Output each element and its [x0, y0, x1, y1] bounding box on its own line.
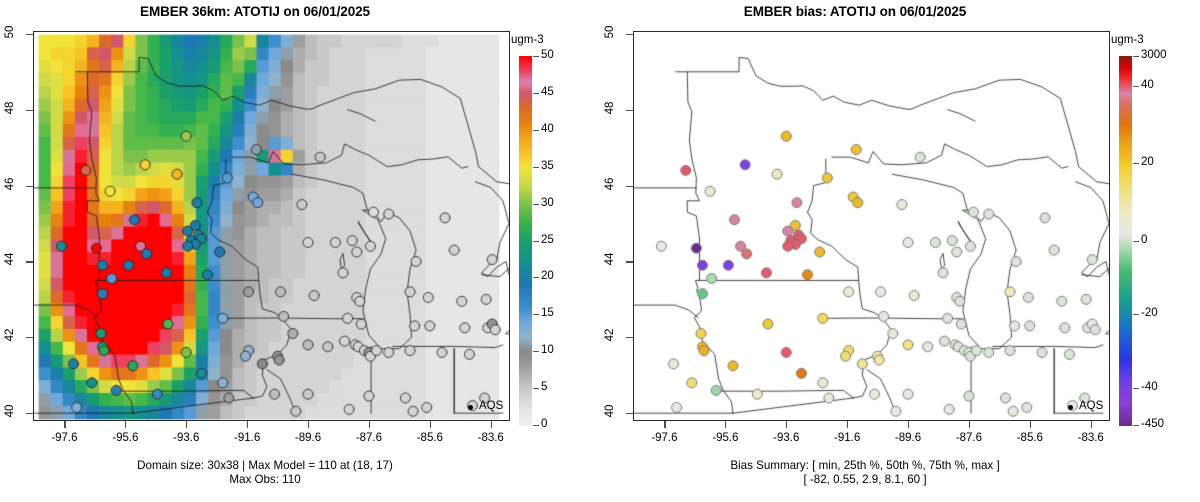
- colorbar-tick-label: 0: [541, 418, 547, 430]
- colorbar-tick: [533, 204, 539, 205]
- x-axis-tick-label: -93.6: [756, 432, 816, 444]
- x-axis-tick: [491, 421, 492, 428]
- colorbar-gradient: [519, 56, 532, 426]
- aqs-legend-dot: [468, 405, 473, 410]
- y-axis-tick-label: 42: [604, 320, 616, 350]
- y-axis-tick-label: 44: [4, 244, 16, 274]
- x-axis-tick: [969, 421, 970, 428]
- x-axis-tick-label: -87.6: [939, 432, 999, 444]
- y-axis-tick: [26, 34, 33, 35]
- y-axis-tick-label: 46: [604, 169, 616, 199]
- y-axis-tick-label: 50: [604, 17, 616, 47]
- y-axis-tick-label: 48: [604, 93, 616, 123]
- y-axis-tick: [26, 337, 33, 338]
- colorbar-tick-label: -40: [1141, 381, 1158, 393]
- colorbar-tick: [1133, 314, 1139, 315]
- x-axis-tick-label: -83.6: [461, 432, 521, 444]
- colorbar-tick: [1133, 425, 1139, 426]
- colorbar-tick-label: 25: [541, 234, 554, 246]
- colorbar-tick: [1133, 388, 1139, 389]
- x-axis-tick-label: -83.6: [1061, 432, 1121, 444]
- x-axis-tick: [369, 421, 370, 428]
- x-axis-tick: [430, 421, 431, 428]
- panel-bias-title: EMBER bias: ATOTIJ on 06/01/2025: [600, 4, 1110, 19]
- colorbar-tick: [533, 277, 539, 278]
- y-axis-tick: [626, 413, 633, 414]
- x-axis-tick: [125, 421, 126, 428]
- colorbar-tick: [533, 351, 539, 352]
- colorbar-unit-label: ugm-3: [1111, 34, 1144, 46]
- x-axis-tick-label: -97.6: [34, 432, 94, 444]
- x-axis-tick: [908, 421, 909, 428]
- x-axis-tick-label: -95.6: [95, 432, 155, 444]
- colorbar-tick-label: 20: [1141, 156, 1154, 168]
- panel-bias-plot-area: [633, 31, 1110, 421]
- colorbar-tick: [533, 167, 539, 168]
- y-axis-tick-label: 48: [4, 93, 16, 123]
- colorbar-tick: [533, 425, 539, 426]
- y-axis-tick: [626, 261, 633, 262]
- panel-bias: EMBER bias: ATOTIJ on 06/01/2025 Bias Su…: [600, 0, 1200, 502]
- colorbar-tick-label: 15: [541, 307, 554, 319]
- colorbar-tick-label: 50: [541, 49, 554, 61]
- y-axis-tick: [26, 413, 33, 414]
- x-axis-tick-label: -95.6: [695, 432, 755, 444]
- model-raster-canvas: [34, 32, 509, 420]
- y-axis-tick-label: 40: [4, 396, 16, 426]
- x-axis-tick-label: -93.6: [156, 432, 216, 444]
- y-axis-tick-label: 42: [4, 320, 16, 350]
- x-axis-tick: [308, 421, 309, 428]
- x-axis-tick: [847, 421, 848, 428]
- figure-root: EMBER 36km: ATOTIJ on 06/01/2025 Domain …: [0, 0, 1200, 502]
- colorbar-tick: [533, 56, 539, 57]
- panel-model-title: EMBER 36km: ATOTIJ on 06/01/2025: [0, 4, 510, 19]
- x-axis-tick: [786, 421, 787, 428]
- y-axis-tick-label: 50: [4, 17, 16, 47]
- aqs-legend-label: AQS: [1079, 400, 1103, 412]
- x-axis-tick-label: -89.6: [878, 432, 938, 444]
- panel-model-caption-line2: Max Obs: 110: [0, 473, 530, 486]
- aqs-legend-dot: [1068, 405, 1073, 410]
- panel-bias-caption-line2: [ -82, 0.55, 2.9, 8.1, 60 ]: [600, 473, 1130, 486]
- x-axis-tick: [186, 421, 187, 428]
- colorbar-tick: [533, 93, 539, 94]
- y-axis-tick: [26, 186, 33, 187]
- x-axis-tick: [64, 421, 65, 428]
- x-axis-tick: [247, 421, 248, 428]
- colorbar-tick: [533, 388, 539, 389]
- colorbar-tick-label: -450: [1141, 418, 1164, 430]
- colorbar-tick: [533, 241, 539, 242]
- colorbar-tick-label: 30: [541, 197, 554, 209]
- colorbar-tick: [1133, 163, 1139, 164]
- x-axis-tick-label: -91.6: [217, 432, 277, 444]
- colorbar-tick-label: 20: [541, 270, 554, 282]
- colorbar-tick-label: -20: [1141, 307, 1158, 319]
- x-axis-tick-label: -97.6: [634, 432, 694, 444]
- panel-model-caption-line1: Domain size: 30x38 | Max Model = 110 at …: [0, 459, 530, 472]
- colorbar-tick-label: 10: [541, 344, 554, 356]
- aqs-legend-label: AQS: [479, 400, 503, 412]
- x-axis-tick-label: -87.6: [339, 432, 399, 444]
- colorbar-tick: [1133, 86, 1139, 87]
- panel-model: EMBER 36km: ATOTIJ on 06/01/2025 Domain …: [0, 0, 600, 502]
- x-axis-tick-label: -85.6: [400, 432, 460, 444]
- x-axis-tick: [664, 421, 665, 428]
- y-axis-tick: [26, 110, 33, 111]
- colorbar-tick-label: 40: [541, 123, 554, 135]
- y-axis-tick-label: 40: [604, 396, 616, 426]
- x-axis-tick-label: -91.6: [817, 432, 877, 444]
- x-axis-tick: [1030, 421, 1031, 428]
- y-axis-tick: [626, 110, 633, 111]
- colorbar-tick-label: 35: [541, 160, 554, 172]
- panel-bias-caption-line1: Bias Summary: [ min, 25th %, 50th %, 75t…: [600, 459, 1130, 472]
- colorbar-tick: [533, 130, 539, 131]
- bias-points-canvas: [634, 32, 1109, 420]
- x-axis-tick: [1091, 421, 1092, 428]
- colorbar-tick-label: 3000: [1141, 49, 1167, 61]
- y-axis-tick: [626, 337, 633, 338]
- colorbar-tick-label: 40: [1141, 79, 1154, 91]
- colorbar-tick-label: 45: [541, 86, 554, 98]
- y-axis-tick-label: 46: [4, 169, 16, 199]
- colorbar-tick: [533, 314, 539, 315]
- colorbar-tick: [1133, 56, 1139, 57]
- colorbar-tick-label: 5: [541, 381, 547, 393]
- y-axis-tick: [626, 186, 633, 187]
- colorbar-unit-label: ugm-3: [511, 34, 544, 46]
- x-axis-tick: [725, 421, 726, 428]
- y-axis-tick: [26, 261, 33, 262]
- y-axis-tick: [626, 34, 633, 35]
- y-axis-tick-label: 44: [604, 244, 616, 274]
- colorbar-tick-label: 0: [1141, 234, 1147, 246]
- x-axis-tick-label: -89.6: [278, 432, 338, 444]
- colorbar-tick: [1133, 241, 1139, 242]
- colorbar-gradient: [1119, 56, 1132, 426]
- panel-model-plot-area: [33, 31, 510, 421]
- x-axis-tick-label: -85.6: [1000, 432, 1060, 444]
